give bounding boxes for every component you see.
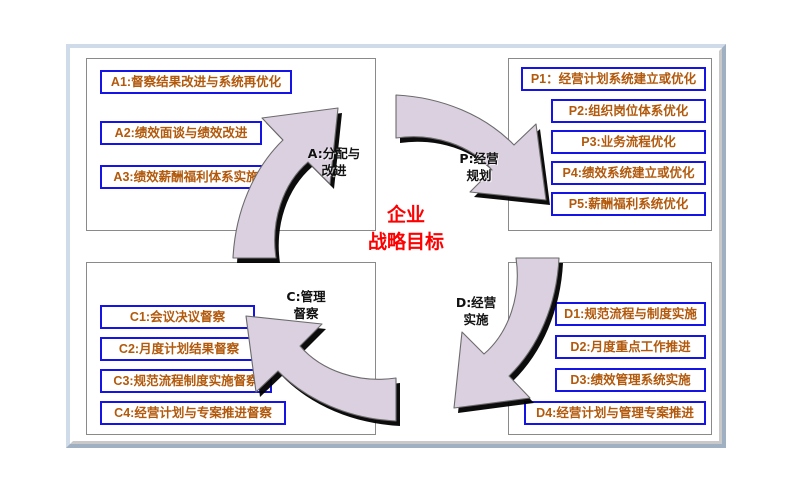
arrow-p xyxy=(396,95,546,200)
item-a1[interactable]: A1:督察结果改进与系统再优化 xyxy=(100,70,292,94)
item-p1[interactable]: P1：经营计划系统建立或优化 xyxy=(521,67,706,91)
arrow-a xyxy=(233,108,338,258)
quadrant-label-p: P:经营 规划 xyxy=(443,150,515,184)
diagram-canvas: A1:督察结果改进与系统再优化 A2:绩效面谈与绩效改进 A3:绩效薪酬福利体系… xyxy=(0,0,800,500)
quadrant-label-c: C:管理 督察 xyxy=(266,288,346,322)
center-goal-text: 企业 战略目标 xyxy=(344,202,468,256)
pdca-cycle-ring xyxy=(196,96,596,420)
quadrant-label-a: A:分配与 改进 xyxy=(291,145,377,179)
quadrant-label-d: D:经营 实施 xyxy=(436,294,516,328)
